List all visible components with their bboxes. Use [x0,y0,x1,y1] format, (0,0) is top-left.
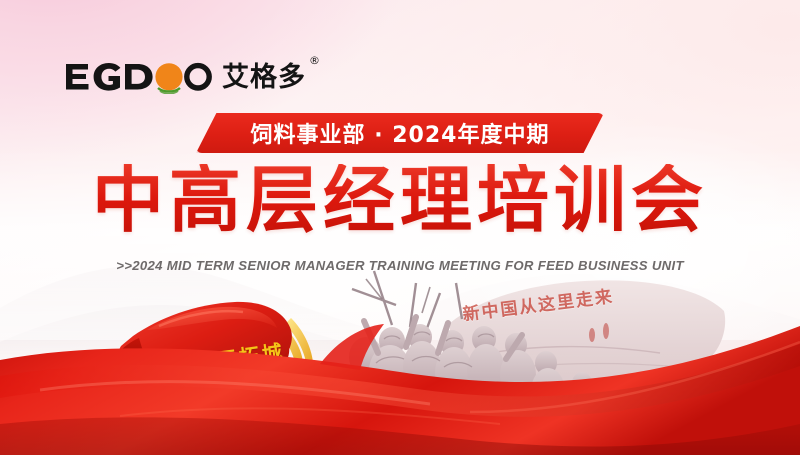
brand-chinese-name-text: 艾格多 [222,62,306,93]
banner-text: 饲料事业部 · 2024年度中期 [196,113,604,153]
page-title: 中高层经理培训会 [0,164,800,236]
english-subtitle: >>2024 MID TERM SENIOR MANAGER TRAINING … [0,258,800,273]
training-meeting-poster: 新中国从这里走来 [0,0,800,455]
brand-logo[interactable]: 艾格多 ® [64,58,306,96]
brand-chinese-name: 艾格多 ® [222,64,306,91]
registered-trademark-icon: ® [309,55,321,66]
red-silk-ribbon [0,320,800,455]
event-subtitle-banner: 饲料事业部 · 2024年度中期 [196,113,604,153]
egdoo-wordmark-icon [64,60,212,94]
